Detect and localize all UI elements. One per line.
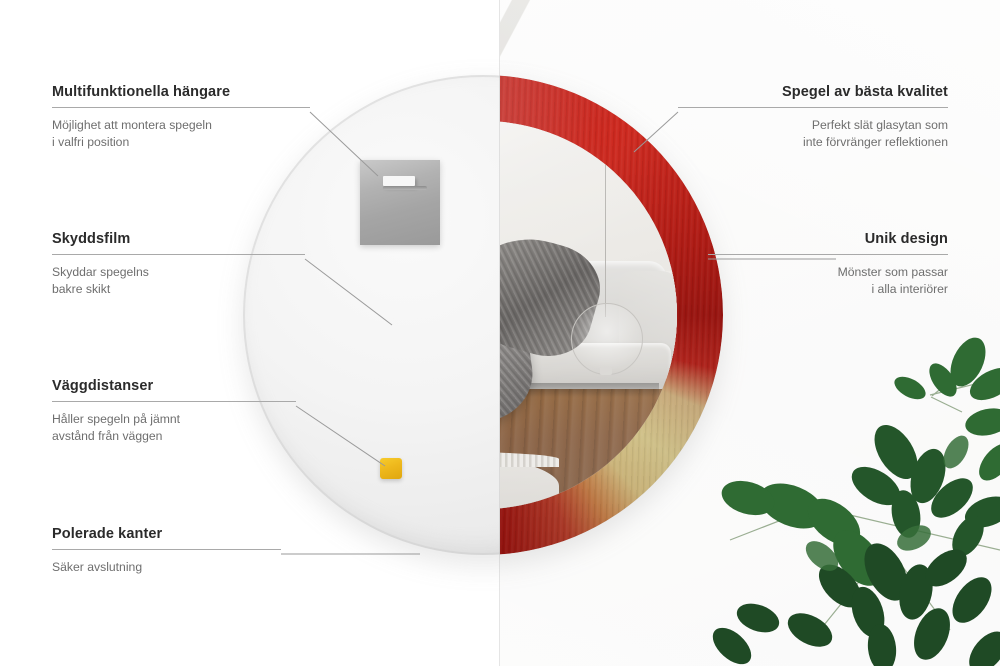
callout-description: Säker avslutning: [52, 559, 281, 576]
callout-spegel-av-basta-kvalitet: Spegel av bästa kvalitet Perfekt slät gl…: [678, 84, 948, 151]
callout-rule: [678, 107, 948, 108]
callout-title: Spegel av bästa kvalitet: [678, 84, 948, 100]
callout-description: Håller spegeln på jämnt avstånd från väg…: [52, 411, 296, 445]
callout-unik-design: Unik design Mönster som passar i alla in…: [708, 231, 948, 298]
infographic-canvas: Multifunktionella hängare Möjlighet att …: [0, 0, 1000, 666]
mirror-hanger-plate: [360, 160, 440, 245]
callout-description: Skyddar spegelns bakre skikt: [52, 264, 305, 298]
callout-vaggdistanser: Väggdistanser Håller spegeln på jämnt av…: [52, 378, 296, 445]
callout-title: Polerade kanter: [52, 526, 281, 542]
mirror-hanger-slot: [383, 176, 415, 186]
callout-rule: [52, 254, 305, 255]
callout-rule: [52, 549, 281, 550]
callout-description: Möjlighet att montera spegeln i valfri p…: [52, 117, 310, 151]
callout-description: Perfekt slät glasytan som inte förvränge…: [678, 117, 948, 151]
reflection-lamp-shade: [571, 303, 643, 375]
product-mirror: [243, 75, 723, 555]
callout-rule: [52, 401, 296, 402]
callout-title: Väggdistanser: [52, 378, 296, 394]
callout-title: Skyddsfilm: [52, 231, 305, 247]
wall-spacer-block: [380, 458, 402, 479]
callout-rule: [708, 254, 948, 255]
reflection-lamp-bulb: [600, 367, 612, 375]
image-split-divider: [499, 0, 500, 666]
callout-rule: [52, 107, 310, 108]
callout-title: Unik design: [708, 231, 948, 247]
callout-title: Multifunktionella hängare: [52, 84, 310, 100]
callout-multifunktionella-hangare: Multifunktionella hängare Möjlighet att …: [52, 84, 310, 151]
reflection-lamp-cord: [605, 121, 606, 317]
callout-skyddsfilm: Skyddsfilm Skyddar spegelns bakre skikt: [52, 231, 305, 298]
callout-polerade-kanter: Polerade kanter Säker avslutning: [52, 526, 281, 576]
callout-description: Mönster som passar i alla interiörer: [708, 264, 948, 298]
mirror-hanger-bar: [383, 186, 427, 190]
